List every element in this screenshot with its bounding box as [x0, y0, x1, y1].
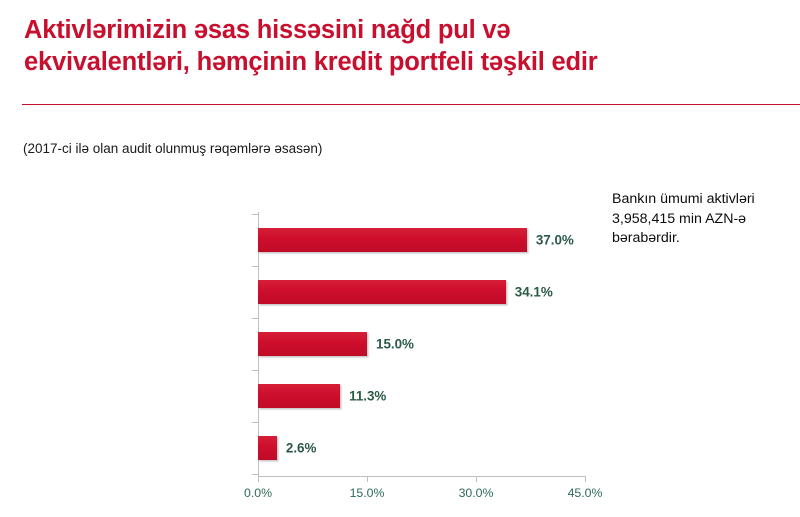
- total-assets-note: Bankın ümumi aktivləri 3,958,415 min AZN…: [612, 190, 798, 249]
- page-title: Aktivlərimizin əsas hissəsini nağd pul v…: [24, 14, 764, 78]
- bar: [258, 228, 527, 252]
- bar-value-label: 11.3%: [349, 389, 386, 404]
- bar: [258, 384, 340, 408]
- y-axis-tick: [252, 266, 258, 267]
- x-axis-tick-label: 0.0%: [244, 486, 272, 500]
- y-axis-tick: [252, 422, 258, 423]
- bar-value-label: 37.0%: [536, 233, 574, 248]
- x-axis-tick-label: 30.0%: [459, 486, 494, 500]
- y-axis-tick: [252, 318, 258, 319]
- y-axis-tick: [252, 370, 258, 371]
- assets-bar-chart: 0.0%15.0%30.0%45.0%37.0%Nağd pul və ekvi…: [0, 195, 620, 505]
- chart-plot-area: 0.0%15.0%30.0%45.0%37.0%Nağd pul və ekvi…: [258, 212, 585, 476]
- x-axis-tick-label: 45.0%: [568, 486, 603, 500]
- x-axis-line: [258, 476, 585, 477]
- bar-value-label: 34.1%: [515, 285, 553, 300]
- bar-value-label: 2.6%: [286, 441, 317, 456]
- title-divider: [22, 104, 800, 105]
- page-subtitle: (2017-ci ilə olan audit olunmuş rəqəmlər…: [23, 140, 322, 158]
- y-axis-tick: [252, 214, 258, 215]
- x-axis-tick: [585, 476, 586, 482]
- x-axis-tick: [258, 476, 259, 482]
- bar: [258, 332, 367, 356]
- x-axis-tick-label: 15.0%: [350, 486, 385, 500]
- x-axis-tick: [476, 476, 477, 482]
- y-axis-tick: [252, 474, 258, 475]
- bar: [258, 436, 277, 460]
- bar-value-label: 15.0%: [376, 337, 414, 352]
- bar: [258, 280, 506, 304]
- x-axis-tick: [367, 476, 368, 482]
